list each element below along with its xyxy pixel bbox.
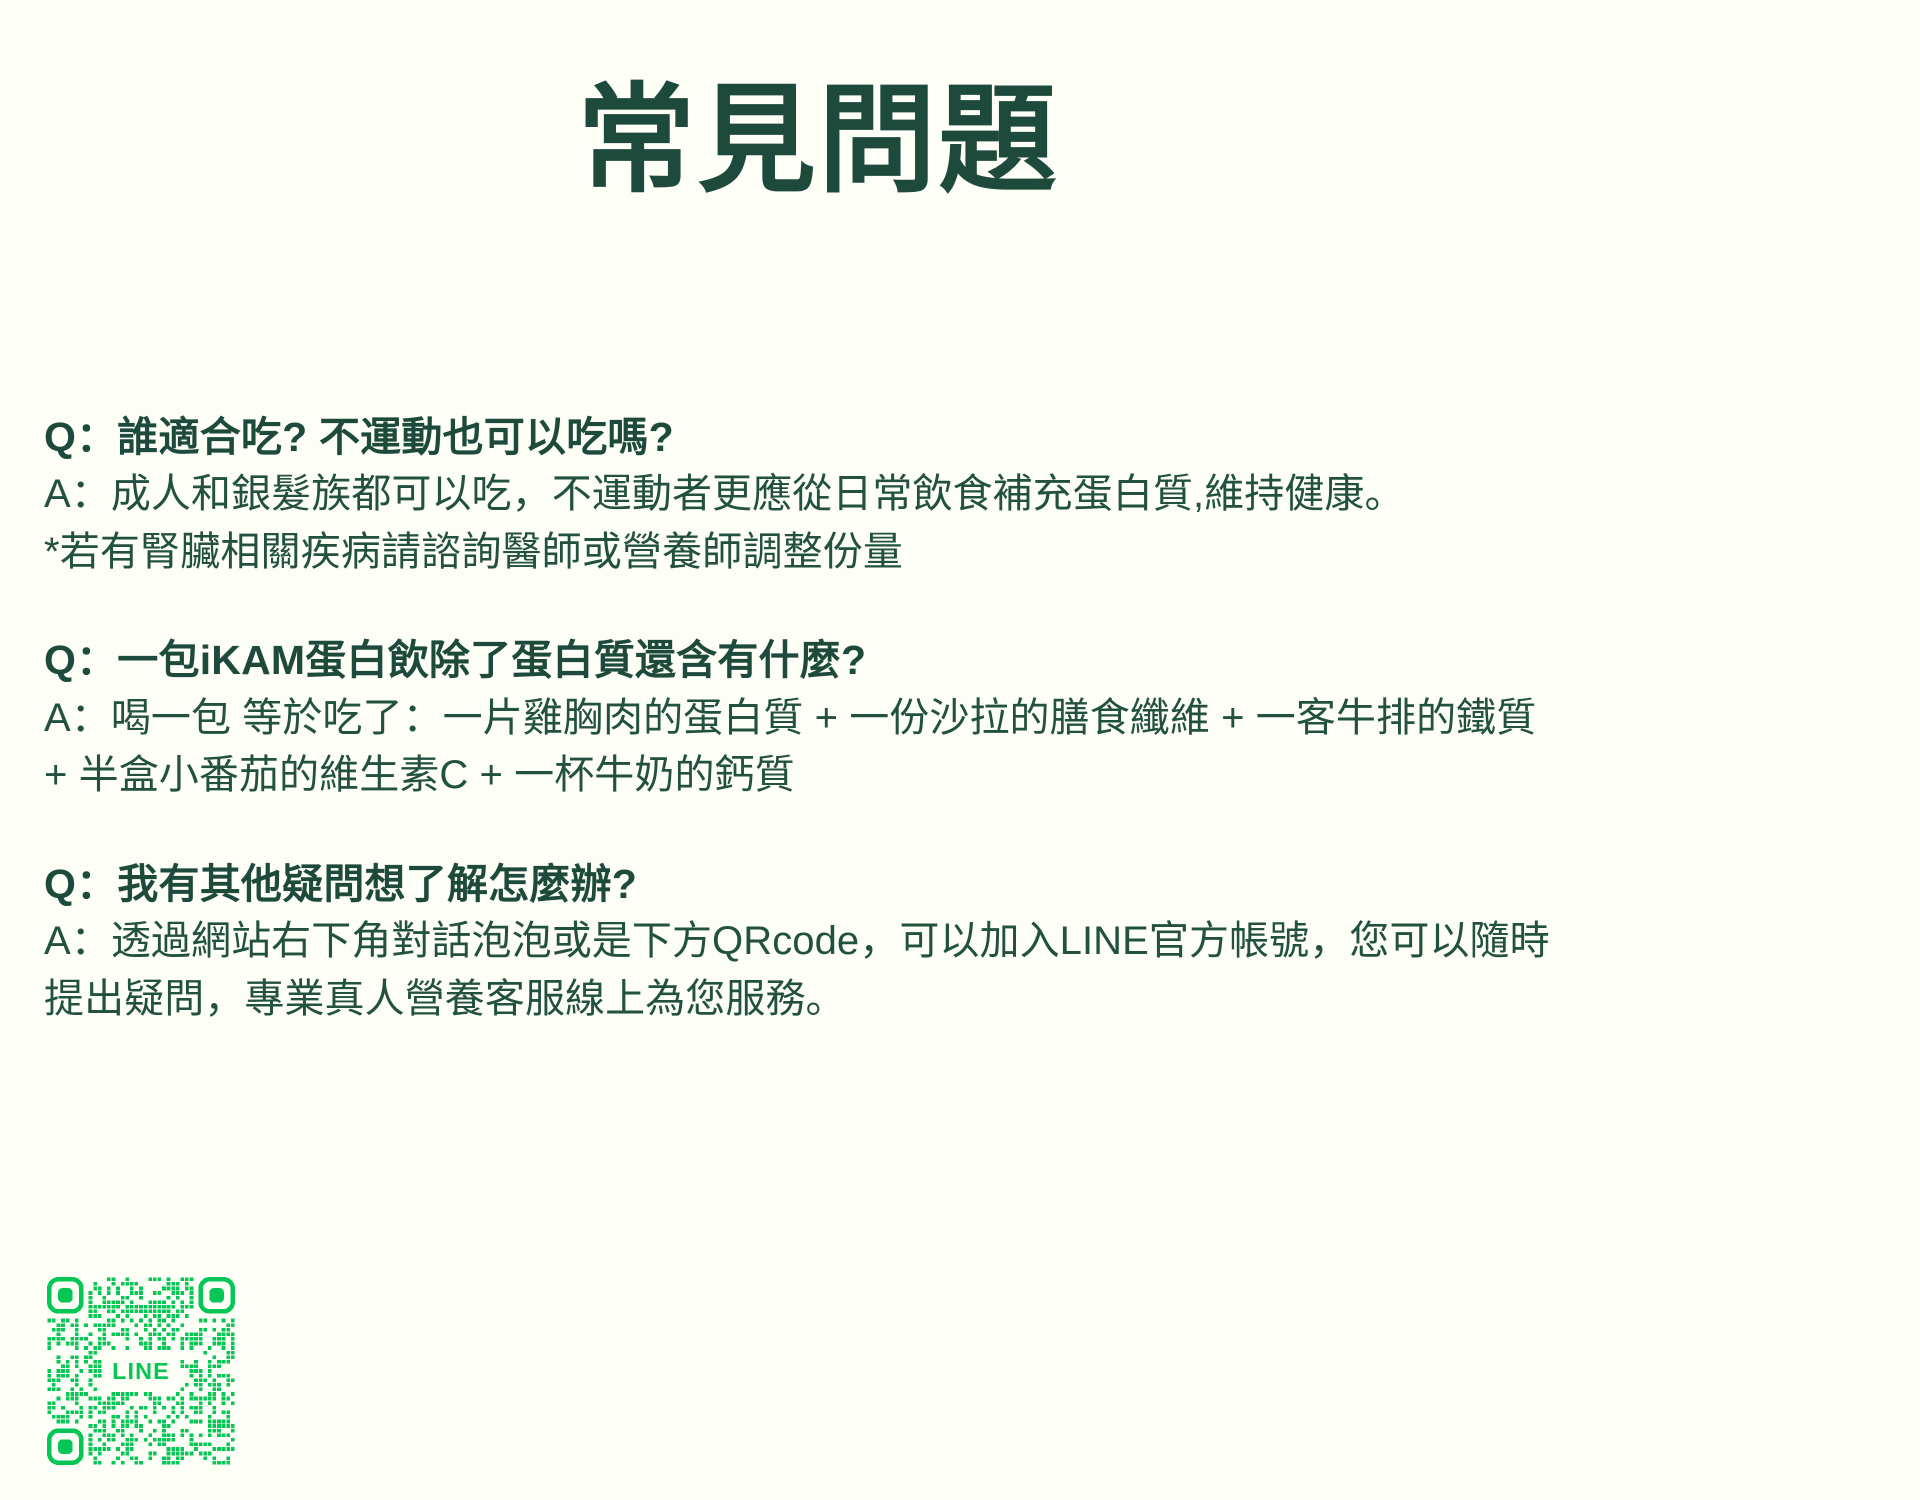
- line-wordmark: LINE: [112, 1358, 170, 1384]
- faq-answer-1-note: *若有腎臟相關疾病請諮詢醫師或營養師調整份量: [44, 524, 1884, 582]
- faq-item-1: Q：誰適合吃? 不運動也可以吃嗎? A：成人和銀髮族都可以吃，不運動者更應從日常…: [44, 408, 1884, 581]
- faq-answer-1-line-1: A：成人和銀髮族都可以吃，不運動者更應從日常飲食補充蛋白質,維持健康。: [44, 466, 1884, 524]
- faq-answer-2-line-1: A：喝一包 等於吃了：一片雞胸肉的蛋白質 + 一份沙拉的膳食纖維 + 一客牛排的…: [44, 690, 1884, 748]
- page-title: 常見問題: [577, 78, 1058, 205]
- faq-list: Q：誰適合吃? 不運動也可以吃嗎? A：成人和銀髮族都可以吃，不運動者更應從日常…: [44, 408, 1884, 1028]
- faq-answer-3-line-2: 提出疑問，專業真人營養客服線上為您服務。: [44, 971, 1884, 1029]
- faq-question-1: Q：誰適合吃? 不運動也可以吃嗎?: [44, 408, 1884, 466]
- faq-question-3: Q：我有其他疑問想了解怎麼辦?: [44, 855, 1884, 913]
- faq-page: 常見問題 Q：誰適合吃? 不運動也可以吃嗎? A：成人和銀髮族都可以吃，不運動者…: [0, 0, 1920, 1500]
- faq-item-3: Q：我有其他疑問想了解怎麼辦? A：透過網站右下角對話泡泡或是下方QRcode，…: [44, 855, 1884, 1028]
- line-qr-code-icon: LINE: [47, 1277, 235, 1465]
- faq-question-2: Q：一包iKAM蛋白飲除了蛋白質還含有什麼?: [44, 631, 1884, 689]
- faq-answer-2-line-2: + 半盒小番茄的維生素C + 一杯牛奶的鈣質: [44, 747, 1884, 805]
- page-title-container: 常見問題: [0, 0, 1920, 205]
- faq-item-2: Q：一包iKAM蛋白飲除了蛋白質還含有什麼? A：喝一包 等於吃了：一片雞胸肉的…: [44, 631, 1884, 804]
- faq-answer-3-line-1: A：透過網站右下角對話泡泡或是下方QRcode，可以加入LINE官方帳號，您可以…: [44, 913, 1884, 971]
- line-qr-code[interactable]: LINE: [47, 1277, 235, 1465]
